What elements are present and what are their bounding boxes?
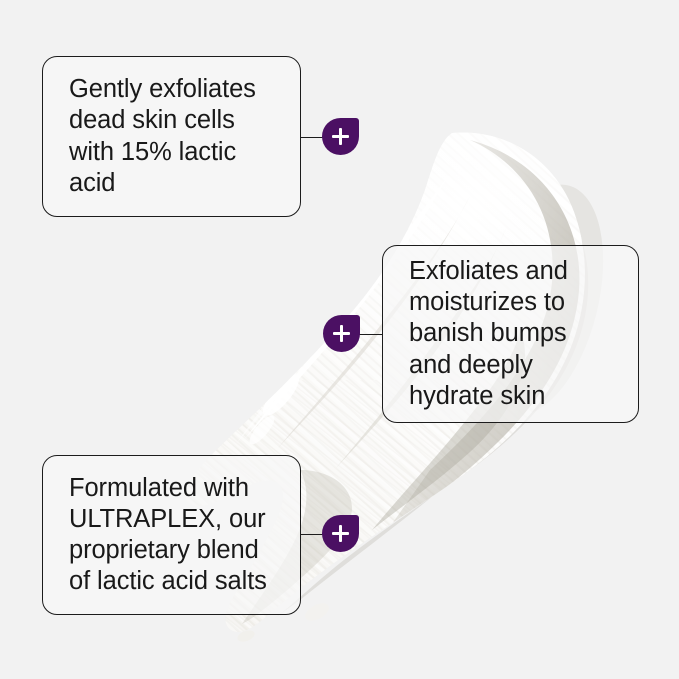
connector-line-2 (358, 334, 383, 335)
callout-text-3: Formulated with ULTRAPLEX, our proprieta… (43, 473, 267, 597)
callout-box-3: Formulated with ULTRAPLEX, our proprieta… (42, 455, 301, 615)
plus-icon-vertical-bar (340, 325, 343, 342)
product-feature-callout-graphic: Gently exfoliates dead skin cells with 1… (0, 0, 679, 679)
plus-marker-icon-1[interactable] (322, 118, 359, 155)
connector-line-3 (300, 534, 324, 535)
connector-line-1 (300, 137, 324, 138)
plus-icon-vertical-bar (339, 128, 342, 145)
plus-marker-icon-2[interactable] (323, 315, 360, 352)
plus-icon-vertical-bar (339, 525, 342, 542)
callout-box-1: Gently exfoliates dead skin cells with 1… (42, 56, 301, 217)
plus-marker-icon-3[interactable] (322, 515, 359, 552)
callout-text-1: Gently exfoliates dead skin cells with 1… (43, 74, 256, 198)
callout-box-2: Exfoliates and moisturizes to banish bum… (382, 245, 639, 423)
callout-text-2: Exfoliates and moisturizes to banish bum… (383, 256, 568, 412)
